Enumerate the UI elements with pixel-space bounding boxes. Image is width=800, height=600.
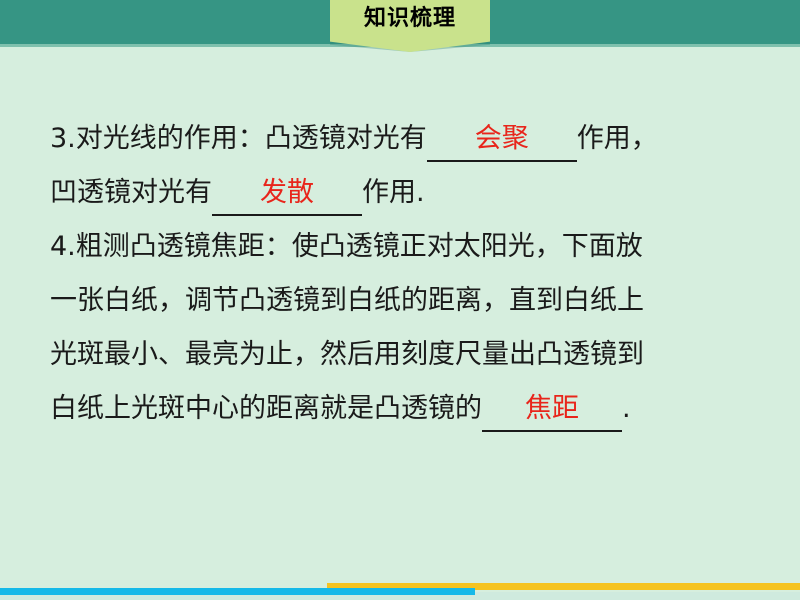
line-3a-text-end: 作用，	[577, 123, 658, 154]
line-4b-text: 一张白纸，调节凸透镜到白纸的距离，直到白纸上	[50, 285, 644, 316]
text-line-4a: 4.粗测凸透镜焦距：使凸透镜正对太阳光，下面放	[50, 220, 760, 274]
blank-answer-focal-length: 焦距	[482, 382, 622, 432]
section-title: 知识梳理	[364, 0, 456, 30]
footer-bar-cyan	[0, 588, 475, 595]
line-4d-text-start: 白纸上光斑中心的距离就是凸透镜的	[50, 393, 482, 424]
text-line-3a: 3.对光线的作用：凸透镜对光有会聚作用，	[50, 112, 760, 166]
line-3b-text-start: 凹透镜对光有	[50, 177, 212, 208]
line-4a-text: 4.粗测凸透镜焦距：使凸透镜正对太阳光，下面放	[50, 231, 643, 262]
text-line-4d: 白纸上光斑中心的距离就是凸透镜的焦距.	[50, 382, 760, 436]
text-line-3b: 凹透镜对光有发散作用.	[50, 166, 760, 220]
line-3b-text-end: 作用.	[362, 177, 425, 208]
blank-answer-converge: 会聚	[427, 112, 577, 162]
line-3a-text-start: 3.对光线的作用：凸透镜对光有	[50, 123, 427, 154]
blank-answer-diverge: 发散	[212, 166, 362, 216]
slide-body: 3.对光线的作用：凸透镜对光有会聚作用， 凹透镜对光有发散作用. 4.粗测凸透镜…	[50, 112, 760, 436]
text-line-4c: 光斑最小、最亮为止，然后用刻度尺量出凸透镜到	[50, 328, 760, 382]
text-line-4b: 一张白纸，调节凸透镜到白纸的距离，直到白纸上	[50, 274, 760, 328]
slide-root: 知识梳理 3.对光线的作用：凸透镜对光有会聚作用， 凹透镜对光有发散作用. 4.…	[0, 0, 800, 600]
line-4c-text: 光斑最小、最亮为止，然后用刻度尺量出凸透镜到	[50, 339, 644, 370]
line-4d-text-end: .	[622, 393, 631, 424]
section-banner: 知识梳理	[330, 0, 490, 52]
